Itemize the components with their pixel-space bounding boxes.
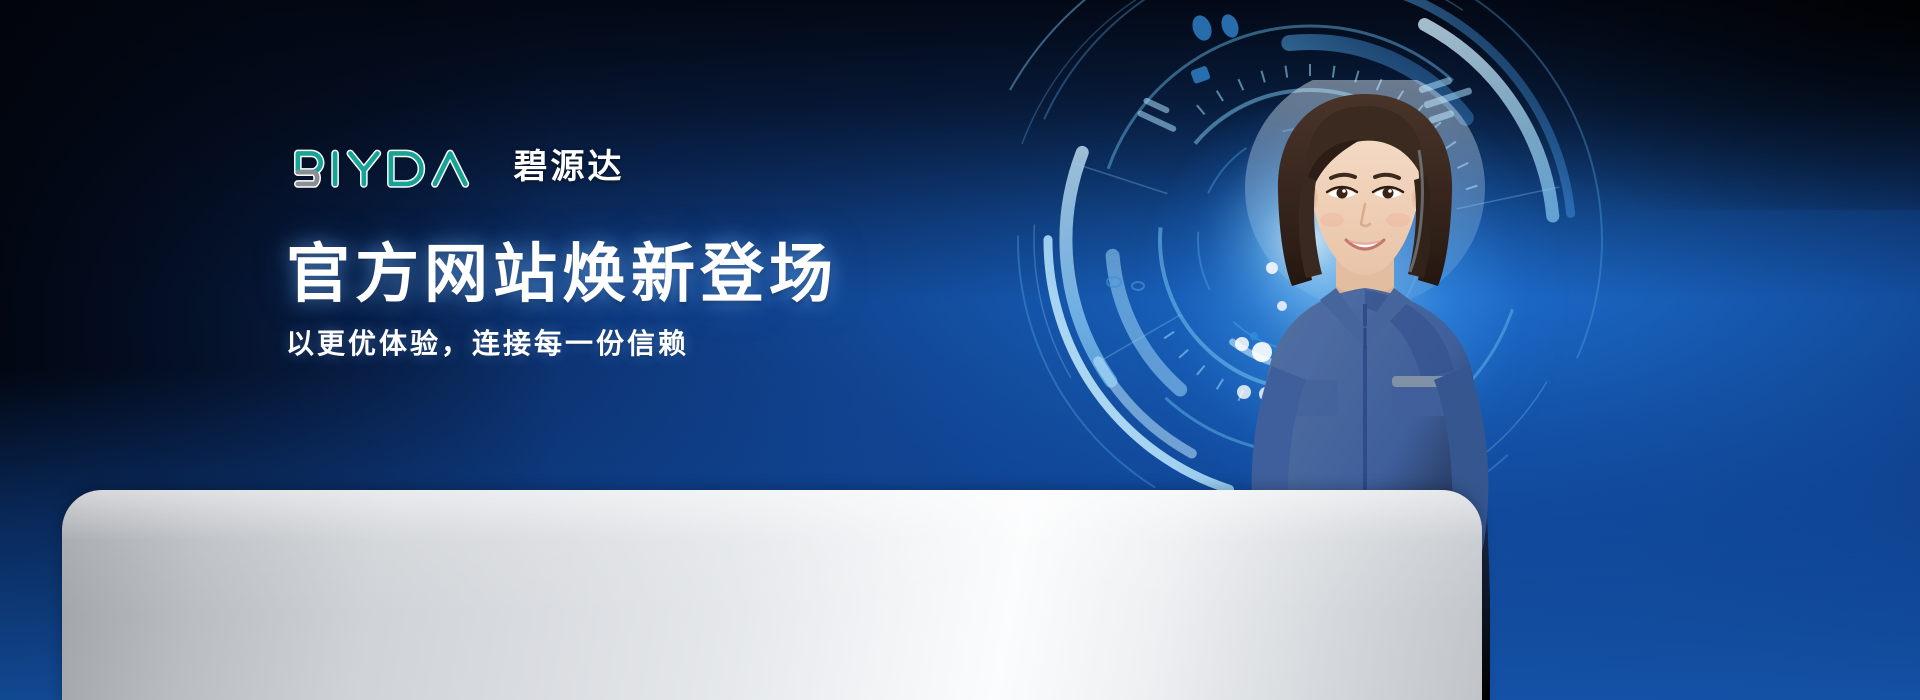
page-subtitle: 以更优体验，连接每一份信赖 <box>286 327 986 361</box>
brand-chinese-name: 碧源达 <box>514 150 625 184</box>
biyda-logo-icon <box>286 145 498 189</box>
background-corner-shade <box>1400 0 1920 210</box>
silver-plate-icon <box>62 490 1482 700</box>
brand-logo: 碧源达 <box>286 140 986 194</box>
banner-content: 碧源达 官方网站焕新登场 以更优体验，连接每一份信赖 <box>286 140 986 361</box>
hero-banner: 碧源达 官方网站焕新登场 以更优体验，连接每一份信赖 <box>0 0 1920 700</box>
page-title: 官方网站焕新登场 <box>286 242 986 309</box>
plate-sheen <box>62 490 1482 700</box>
